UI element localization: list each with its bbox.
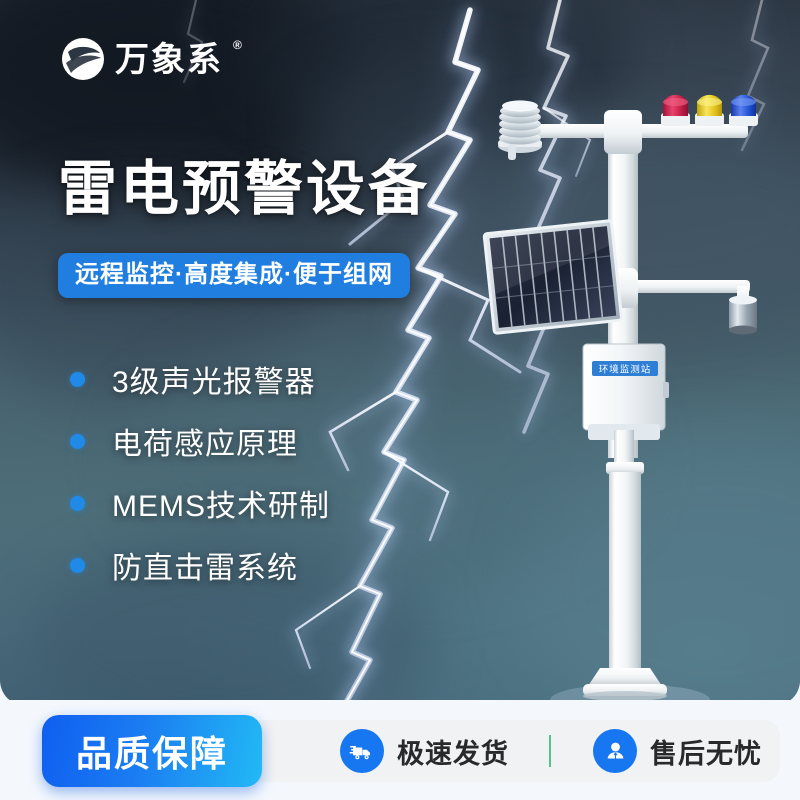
solar-panel bbox=[484, 221, 622, 334]
sphere-swoosh-logo-icon bbox=[60, 36, 106, 82]
delivery-truck-icon bbox=[340, 729, 384, 773]
bullet-dot-icon bbox=[70, 372, 85, 387]
service-label: 售后无忧 bbox=[650, 732, 762, 771]
service-item-fast-shipping: 极速发货 bbox=[340, 729, 509, 773]
bullet-dot-icon bbox=[70, 496, 85, 511]
feature-item: MEMS技术研制 bbox=[70, 472, 330, 534]
service-divider bbox=[549, 735, 551, 767]
pole-collar-top bbox=[604, 110, 642, 154]
blue-alarm-beacon bbox=[729, 95, 758, 126]
alarm-beacon-group bbox=[661, 95, 758, 126]
support-pole-lower bbox=[609, 472, 641, 670]
control-box-label: 环境监测站 bbox=[599, 364, 652, 376]
page-title: 雷电预警设备 bbox=[58, 160, 430, 219]
radiation-shield-sensor bbox=[498, 100, 542, 160]
feature-item: 防直击雷系统 bbox=[70, 534, 330, 596]
base-flange bbox=[583, 668, 667, 701]
quality-guarantee-badge: 品质保障 bbox=[42, 715, 262, 787]
brand-logo[interactable]: 万象系 ® bbox=[60, 36, 241, 82]
customer-service-person-icon bbox=[593, 729, 637, 773]
service-label: 极速发货 bbox=[397, 732, 509, 771]
service-item-after-sales: 售后无忧 bbox=[593, 729, 762, 773]
feature-label: MEMS技术研制 bbox=[112, 481, 330, 525]
feature-label: 防直击雷系统 bbox=[112, 543, 298, 587]
control-box: 环境监测站 bbox=[583, 344, 669, 440]
yellow-alarm-beacon bbox=[695, 95, 724, 126]
feature-label: 3级声光报警器 bbox=[112, 357, 316, 401]
bullet-dot-icon bbox=[70, 434, 85, 449]
product-promo-poster: 环境监测站 万象系 ® bbox=[0, 0, 800, 800]
brand-name: 万象系 bbox=[115, 43, 223, 77]
feature-item: 3级声光报警器 bbox=[70, 348, 330, 410]
feature-list: 3级声光报警器 电荷感应原理 MEMS技术研制 防直击雷系统 bbox=[70, 348, 330, 596]
registered-trademark-mark: ® bbox=[233, 38, 242, 52]
electric-field-mill-sensor bbox=[729, 296, 757, 335]
footer-bar: 极速发货 售后无忧 品质保障 bbox=[0, 700, 800, 800]
feature-item: 电荷感应原理 bbox=[70, 410, 330, 472]
support-pole-neck bbox=[614, 430, 634, 464]
feature-label: 电荷感应原理 bbox=[112, 419, 298, 463]
bullet-dot-icon bbox=[70, 558, 85, 573]
subtitle-banner: 远程监控·高度集成·便于组网 bbox=[58, 253, 410, 298]
red-alarm-beacon bbox=[661, 95, 690, 126]
hero-image-area: 环境监测站 万象系 ® bbox=[0, 0, 800, 706]
